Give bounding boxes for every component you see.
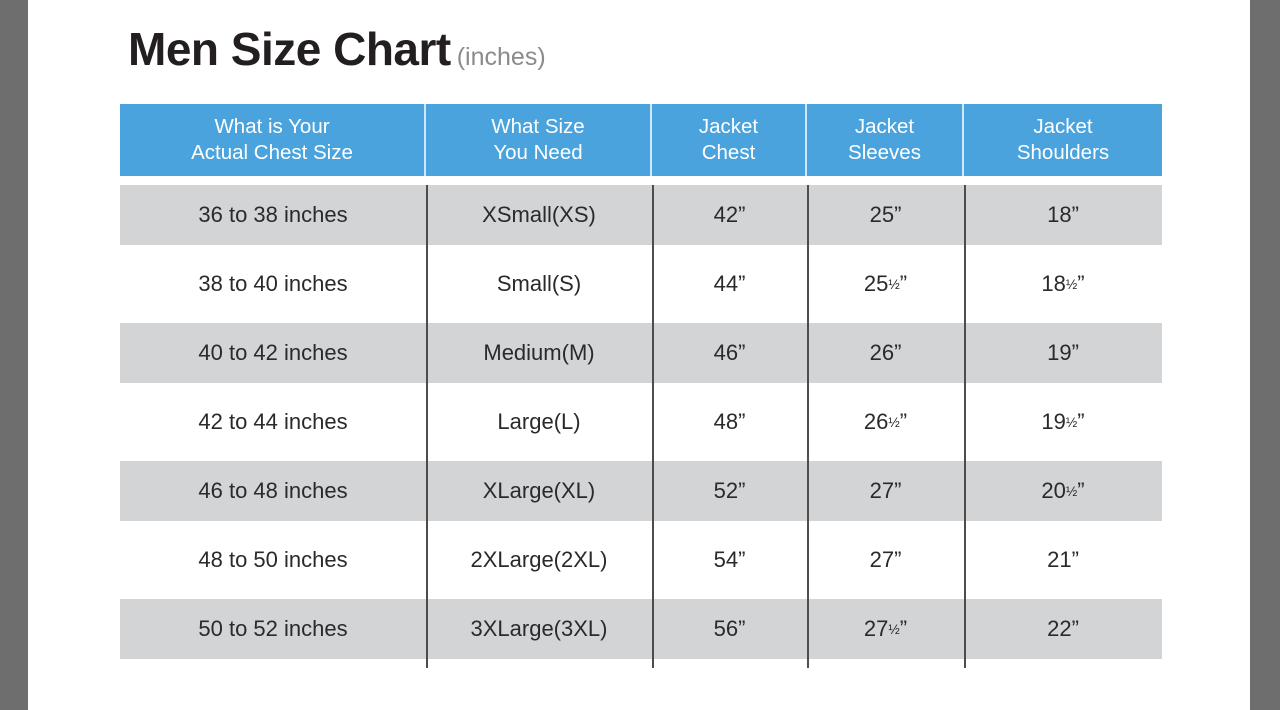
measurement-fraction: ½ xyxy=(1066,277,1077,292)
inch-mark: ” xyxy=(900,616,907,642)
cell-chest-range: 40 to 42 inches xyxy=(120,323,426,383)
measurement-whole: 54 xyxy=(714,547,738,573)
cell-jacket-sleeves: 27” xyxy=(807,530,964,590)
inch-mark: ” xyxy=(1072,547,1079,573)
measurement-whole: 52 xyxy=(714,478,738,504)
measurement-whole: 21 xyxy=(1047,547,1071,573)
table-row[interactable]: 36 to 38 inchesXSmall(XS)42”25”18” xyxy=(120,185,1162,254)
cell-jacket-shoulders: 18” xyxy=(964,185,1162,245)
inch-mark: ” xyxy=(894,340,901,366)
column-header-line1: Jacket xyxy=(1033,115,1092,138)
inch-mark: ” xyxy=(738,478,745,504)
column-header[interactable]: JacketSleeves xyxy=(807,104,964,176)
measurement-whole: 27 xyxy=(864,616,888,642)
measurement-whole: 56 xyxy=(714,616,738,642)
inch-mark: ” xyxy=(738,409,745,435)
column-header-line1: Jacket xyxy=(855,115,914,138)
measurement-whole: 26 xyxy=(864,409,888,435)
cell-chest-range: 48 to 50 inches xyxy=(120,530,426,590)
cell-jacket-chest: 44” xyxy=(652,254,807,314)
inch-mark: ” xyxy=(738,271,745,297)
measurement-whole: 25 xyxy=(864,271,888,297)
inch-mark: ” xyxy=(894,478,901,504)
cell-jacket-sleeves: 25” xyxy=(807,185,964,245)
inch-mark: ” xyxy=(1072,616,1079,642)
column-header-line2: Sleeves xyxy=(848,141,921,164)
cell-chest-range: 42 to 44 inches xyxy=(120,392,426,452)
inch-mark: ” xyxy=(738,340,745,366)
measurement-whole: 44 xyxy=(714,271,738,297)
letterbox-bar-left xyxy=(0,0,28,710)
inch-mark: ” xyxy=(900,409,907,435)
size-chart-page: Men Size Chart(inches) What is YourActua… xyxy=(0,0,1280,710)
measurement-fraction: ½ xyxy=(888,415,899,430)
column-header[interactable]: What is YourActual Chest Size xyxy=(120,104,426,176)
cell-size-needed: XLarge(XL) xyxy=(426,461,652,521)
cell-size-needed: Large(L) xyxy=(426,392,652,452)
table-row[interactable]: 50 to 52 inches3XLarge(3XL)56”27½”22” xyxy=(120,599,1162,668)
page-title-unit: (inches) xyxy=(457,43,546,71)
column-header-line2: Actual Chest Size xyxy=(191,141,353,164)
measurement-whole: 20 xyxy=(1041,478,1065,504)
cell-jacket-sleeves: 27” xyxy=(807,461,964,521)
size-chart-table: What is YourActual Chest SizeWhat SizeYo… xyxy=(120,104,1162,668)
measurement-whole: 27 xyxy=(870,547,894,573)
measurement-whole: 46 xyxy=(714,340,738,366)
cell-jacket-chest: 46” xyxy=(652,323,807,383)
column-header-line2: Chest xyxy=(702,141,756,164)
table-row[interactable]: 42 to 44 inchesLarge(L)48”26½”19½” xyxy=(120,392,1162,461)
inch-mark: ” xyxy=(1072,202,1079,228)
measurement-whole: 26 xyxy=(870,340,894,366)
table-header-row: What is YourActual Chest SizeWhat SizeYo… xyxy=(120,104,1162,176)
measurement-whole: 48 xyxy=(714,409,738,435)
table-row[interactable]: 40 to 42 inchesMedium(M)46”26”19” xyxy=(120,323,1162,392)
cell-jacket-chest: 56” xyxy=(652,599,807,659)
table-row[interactable]: 38 to 40 inchesSmall(S)44”25½”18½” xyxy=(120,254,1162,323)
measurement-fraction: ½ xyxy=(1066,484,1077,499)
cell-chest-range: 50 to 52 inches xyxy=(120,599,426,659)
cell-jacket-shoulders: 19” xyxy=(964,323,1162,383)
cell-jacket-shoulders: 20½” xyxy=(964,461,1162,521)
cell-jacket-sleeves: 26½” xyxy=(807,392,964,452)
measurement-fraction: ½ xyxy=(888,622,899,637)
measurement-whole: 18 xyxy=(1047,202,1071,228)
inch-mark: ” xyxy=(1077,409,1084,435)
inch-mark: ” xyxy=(894,202,901,228)
column-header[interactable]: JacketShoulders xyxy=(964,104,1162,176)
column-header-line1: Jacket xyxy=(699,115,758,138)
cell-size-needed: Medium(M) xyxy=(426,323,652,383)
cell-chest-range: 38 to 40 inches xyxy=(120,254,426,314)
measurement-whole: 19 xyxy=(1047,340,1071,366)
measurement-whole: 18 xyxy=(1041,271,1065,297)
cell-jacket-shoulders: 19½” xyxy=(964,392,1162,452)
cell-size-needed: Small(S) xyxy=(426,254,652,314)
measurement-whole: 22 xyxy=(1047,616,1071,642)
measurement-whole: 19 xyxy=(1041,409,1065,435)
cell-chest-range: 36 to 38 inches xyxy=(120,185,426,245)
page-title-main: Men Size Chart xyxy=(128,23,451,75)
cell-jacket-sleeves: 27½” xyxy=(807,599,964,659)
measurement-whole: 25 xyxy=(870,202,894,228)
cell-jacket-chest: 48” xyxy=(652,392,807,452)
column-header-line1: What Size xyxy=(491,115,584,138)
cell-jacket-sleeves: 26” xyxy=(807,323,964,383)
cell-jacket-sleeves: 25½” xyxy=(807,254,964,314)
measurement-fraction: ½ xyxy=(1066,415,1077,430)
column-header[interactable]: JacketChest xyxy=(652,104,807,176)
measurement-whole: 42 xyxy=(714,202,738,228)
column-header-line2: You Need xyxy=(493,141,582,164)
inch-mark: ” xyxy=(738,547,745,573)
cell-size-needed: XSmall(XS) xyxy=(426,185,652,245)
letterbox-bar-right xyxy=(1250,0,1280,710)
inch-mark: ” xyxy=(738,616,745,642)
measurement-whole: 27 xyxy=(870,478,894,504)
cell-chest-range: 46 to 48 inches xyxy=(120,461,426,521)
table-body: 36 to 38 inchesXSmall(XS)42”25”18”38 to … xyxy=(120,176,1162,668)
column-header-line2: Shoulders xyxy=(1017,141,1109,164)
column-header-line1: What is Your xyxy=(214,115,329,138)
inch-mark: ” xyxy=(1077,478,1084,504)
table-row[interactable]: 48 to 50 inches2XLarge(2XL)54”27”21” xyxy=(120,530,1162,599)
cell-jacket-chest: 54” xyxy=(652,530,807,590)
inch-mark: ” xyxy=(900,271,907,297)
cell-jacket-shoulders: 21” xyxy=(964,530,1162,590)
cell-jacket-shoulders: 18½” xyxy=(964,254,1162,314)
cell-jacket-shoulders: 22” xyxy=(964,599,1162,659)
page-title: Men Size Chart(inches) xyxy=(128,22,546,76)
inch-mark: ” xyxy=(894,547,901,573)
column-header[interactable]: What SizeYou Need xyxy=(426,104,652,176)
cell-jacket-chest: 52” xyxy=(652,461,807,521)
measurement-fraction: ½ xyxy=(888,277,899,292)
table-row[interactable]: 46 to 48 inchesXLarge(XL)52”27”20½” xyxy=(120,461,1162,530)
inch-mark: ” xyxy=(738,202,745,228)
inch-mark: ” xyxy=(1077,271,1084,297)
inch-mark: ” xyxy=(1072,340,1079,366)
cell-size-needed: 3XLarge(3XL) xyxy=(426,599,652,659)
cell-size-needed: 2XLarge(2XL) xyxy=(426,530,652,590)
cell-jacket-chest: 42” xyxy=(652,185,807,245)
